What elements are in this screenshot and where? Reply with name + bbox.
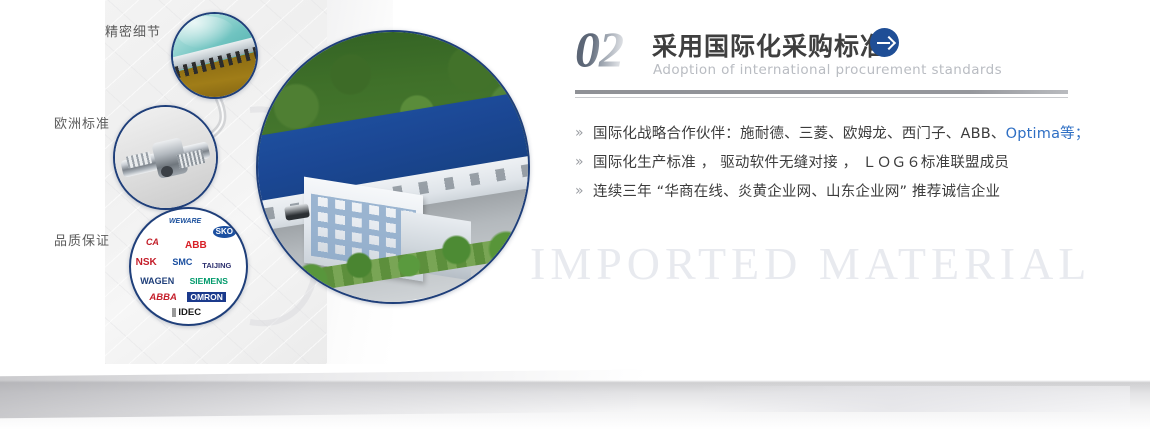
brand-logo-weware: WEWARE — [169, 218, 201, 225]
list-item-text: 连续三年 “华商在线、炎黄企业网、山东企业网” 推荐诚信企业 — [593, 184, 1000, 200]
brand-logo-abba: ABBA — [149, 293, 176, 303]
floor-sheen-left — [0, 368, 820, 419]
brand-logo-idec: IDEC — [172, 308, 201, 318]
photo-glare — [177, 16, 235, 49]
european-standard-photo — [113, 105, 218, 210]
brand-logo-nsk: NSK — [136, 258, 157, 268]
precision-detail-photo — [171, 12, 258, 99]
brand-logo-siemens: SIEMENS — [190, 277, 228, 286]
header-divider-thin — [575, 97, 1068, 98]
chevron-double-right-icon: » — [575, 184, 593, 198]
brand-logo-sko: SKO — [213, 226, 236, 238]
brand-logo-cloud: WEWARE SKO CA ABB NSK SMC TAIJING WAGEN … — [131, 209, 246, 324]
list-item: »国际化战略合作伙伴：施耐德、三菱、欧姆龙、西门子、ABB、Optima等； — [575, 118, 1095, 147]
brand-logo-omron: OMRON — [187, 292, 226, 303]
chevron-double-right-icon: » — [575, 126, 593, 140]
feature-bullet-list: »国际化战略合作伙伴：施耐德、三菱、欧姆龙、西门子、ABB、Optima等；»国… — [575, 118, 1095, 205]
label-european-standard: 欧洲标准 — [54, 113, 110, 132]
list-item-text: 国际化战略合作伙伴：施耐德、三菱、欧姆龙、西门子、ABB、 — [593, 126, 1006, 142]
floor-sheen-right — [700, 386, 1130, 412]
brand-logo-taijing: TAIJING — [202, 262, 231, 270]
section-header: 02 采用国际化采购标准 Adoption of international p… — [575, 24, 1095, 86]
list-item: »连续三年 “华商在线、炎黄企业网、山东企业网” 推荐诚信企业 — [575, 176, 1095, 205]
page-subtitle: Adoption of international procurement st… — [653, 62, 1002, 78]
header-divider — [575, 90, 1068, 94]
list-item-label: 国际化生产标准 ， 驱动软件无缝对接 ， ＬＯＧ６标准联盟成员 — [593, 151, 1009, 172]
factory-aerial-photo — [256, 30, 530, 304]
quality-assurance-photo: WEWARE SKO CA ABB NSK SMC TAIJING WAGEN … — [129, 207, 248, 326]
label-quality-assurance: 品质保证 — [54, 230, 110, 249]
page-title: 采用国际化采购标准 — [652, 27, 886, 63]
label-precision-detail: 精密细节 — [105, 21, 161, 40]
list-item-label: 连续三年 “华商在线、炎黄企业网、山东企业网” 推荐诚信企业 — [593, 180, 1000, 201]
list-item-text: 国际化生产标准 ， 驱动软件无缝对接 ， ＬＯＧ６标准联盟成员 — [593, 155, 1009, 171]
brand-logo-abb: ABB — [185, 241, 207, 251]
chevron-double-right-icon: » — [575, 155, 593, 169]
promo-banner: 精密细节 欧洲标准 品质保证 WEWARE SKO CA ABB NSK SMC… — [0, 0, 1150, 430]
brand-logo-smc: SMC — [172, 258, 192, 267]
arrow-right-circle-icon[interactable] — [870, 28, 899, 57]
brand-logo-ca: CA — [146, 238, 159, 247]
section-number: 02 — [575, 20, 623, 78]
brand-logo-wagen: WAGEN — [140, 277, 174, 286]
list-item-label: 国际化战略合作伙伴：施耐德、三菱、欧姆龙、西门子、ABB、Optima等； — [593, 122, 1090, 143]
watermark-text: IMPORTED MATERIAL — [530, 237, 1091, 290]
highlighted-brand[interactable]: Optima等； — [1006, 126, 1090, 142]
list-item: »国际化生产标准 ， 驱动软件无缝对接 ， ＬＯＧ６标准联盟成员 — [575, 147, 1095, 176]
